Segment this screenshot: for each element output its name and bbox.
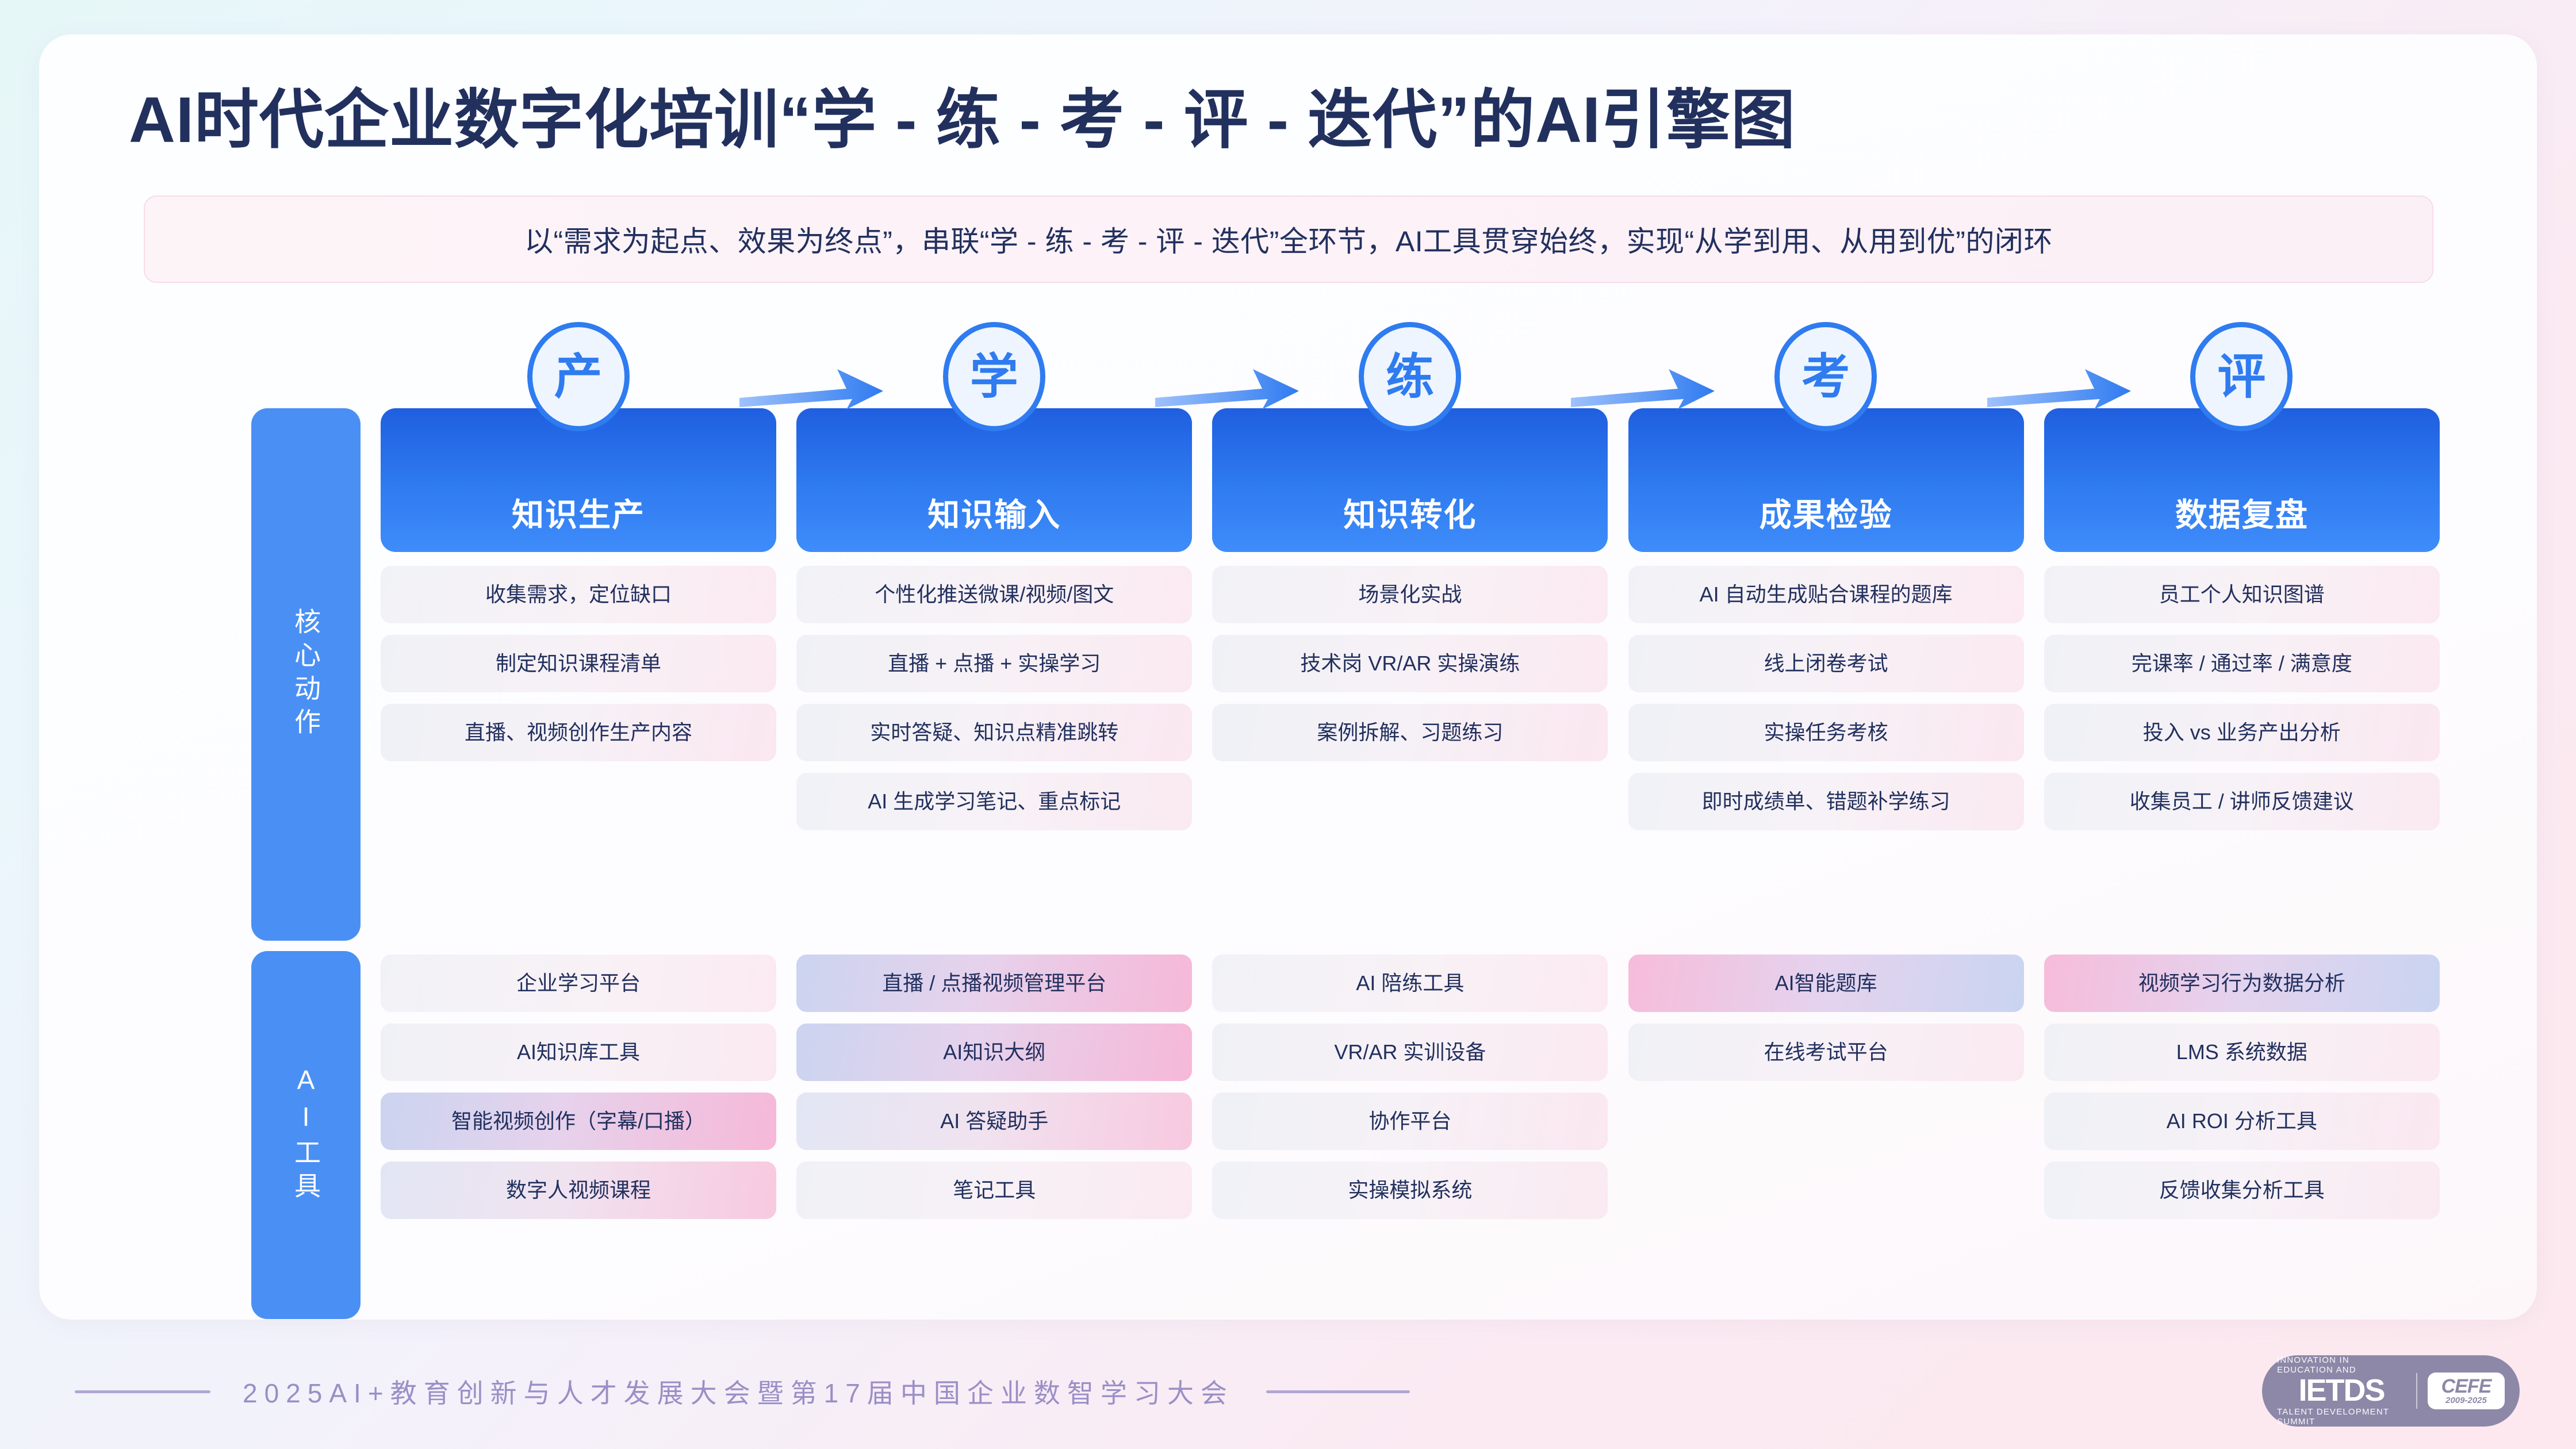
list-item-label: 场景化实战 bbox=[1358, 582, 1462, 606]
core-action-item[interactable]: 投入 vs 业务产出分析 bbox=[2044, 704, 2440, 761]
list-item-label: 投入 vs 业务产出分析 bbox=[2143, 720, 2341, 744]
list-item-label: 实操任务考核 bbox=[1764, 720, 1888, 744]
list-item-label: 直播、视频创作生产内容 bbox=[465, 720, 692, 744]
stage-circle-1: 产 bbox=[527, 322, 630, 431]
ai-tool-item[interactable]: 笔记工具 bbox=[796, 1161, 1192, 1219]
ai-tool-list: AI 陪练工具VR/AR 实训设备协作平台实操模拟系统 bbox=[1212, 954, 1608, 1230]
list-item-label: AI 生成学习笔记、重点标记 bbox=[868, 789, 1121, 813]
rail-core-actions-label: 核心动作 bbox=[287, 608, 325, 741]
stage-header-label: 数据复盘 bbox=[2175, 489, 2309, 536]
list-item-label: 直播 / 点播视频管理平台 bbox=[882, 971, 1106, 995]
core-action-item[interactable]: 直播、视频创作生产内容 bbox=[381, 704, 776, 761]
core-action-item[interactable]: 线上闭卷考试 bbox=[1628, 635, 2024, 692]
stage-header-label: 知识输入 bbox=[927, 489, 1061, 536]
stage-header-label: 知识转化 bbox=[1343, 489, 1477, 536]
core-action-item[interactable]: AI 生成学习笔记、重点标记 bbox=[796, 773, 1192, 830]
stage-header-label: 成果检验 bbox=[1759, 489, 1893, 536]
list-item-label: LMS 系统数据 bbox=[2176, 1040, 2307, 1064]
list-item-label: AI智能题库 bbox=[1775, 971, 1877, 995]
stage-circle-label: 评 bbox=[2217, 352, 2265, 401]
ai-tool-item[interactable]: AI 陪练工具 bbox=[1212, 954, 1608, 1012]
cefe-logo: CEFE 2009-2025 bbox=[2428, 1373, 2505, 1409]
footer-rule-left bbox=[75, 1390, 210, 1393]
stage-circle-label: 练 bbox=[1386, 352, 1434, 401]
core-action-item[interactable]: 直播 + 点播 + 实操学习 bbox=[796, 635, 1192, 692]
core-action-item[interactable]: 收集员工 / 讲师反馈建议 bbox=[2044, 773, 2440, 830]
ai-tool-item[interactable]: AI ROI 分析工具 bbox=[2044, 1092, 2440, 1150]
list-item-label: 线上闭卷考试 bbox=[1764, 651, 1888, 675]
ai-tool-item[interactable]: LMS 系统数据 bbox=[2044, 1023, 2440, 1081]
list-item-label: 智能视频创作（字幕/口播） bbox=[451, 1109, 706, 1133]
ietds-logo: INNOVATION IN EDUCATION AND IETDS TALENT… bbox=[2277, 1355, 2406, 1426]
list-item-label: 企业学习平台 bbox=[516, 971, 641, 995]
ai-tool-item[interactable]: AI智能题库 bbox=[1628, 954, 2024, 1012]
list-item-placeholder bbox=[1628, 1161, 2024, 1219]
list-item-label: 案例拆解、习题练习 bbox=[1317, 720, 1503, 744]
list-item-label: 实时答疑、知识点精准跳转 bbox=[870, 720, 1118, 744]
core-action-list: 员工个人知识图谱完课率 / 通过率 / 满意度投入 vs 业务产出分析收集员工 … bbox=[2044, 566, 2440, 842]
list-item-label: 即时成绩单、错题补学练习 bbox=[1702, 789, 1950, 813]
list-item-label: 员工个人知识图谱 bbox=[2159, 582, 2325, 606]
ai-tool-item[interactable]: 数字人视频课程 bbox=[381, 1161, 776, 1219]
core-action-list: AI 自动生成贴合课程的题库线上闭卷考试实操任务考核即时成绩单、错题补学练习 bbox=[1628, 566, 2024, 842]
list-item-label: AI 自动生成贴合课程的题库 bbox=[1700, 582, 1953, 606]
core-action-item[interactable]: 员工个人知识图谱 bbox=[2044, 566, 2440, 623]
list-item-label: 完课率 / 通过率 / 满意度 bbox=[2132, 651, 2352, 675]
ietds-wordmark: IETDS bbox=[2298, 1375, 2384, 1406]
core-action-item[interactable]: 实操任务考核 bbox=[1628, 704, 2024, 761]
footer-rule-right bbox=[1266, 1390, 1410, 1393]
core-action-item[interactable]: 场景化实战 bbox=[1212, 566, 1608, 623]
ietds-tagline-bottom: TALENT DEVELOPMENT SUMMIT bbox=[2277, 1407, 2406, 1427]
ai-tool-item[interactable]: 反馈收集分析工具 bbox=[2044, 1161, 2440, 1219]
stage-header-label: 知识生产 bbox=[512, 489, 645, 536]
list-item-placeholder bbox=[1628, 1092, 2024, 1150]
list-item-label: 数字人视频课程 bbox=[506, 1178, 651, 1202]
ai-tool-item[interactable]: 协作平台 bbox=[1212, 1092, 1608, 1150]
list-item-label: AI 答疑助手 bbox=[940, 1109, 1048, 1133]
ai-tool-item[interactable]: 在线考试平台 bbox=[1628, 1023, 2024, 1081]
ai-tool-item[interactable]: 实操模拟系统 bbox=[1212, 1161, 1608, 1219]
core-action-item[interactable]: 实时答疑、知识点精准跳转 bbox=[796, 704, 1192, 761]
flow-arrow-icon bbox=[1987, 366, 2131, 412]
list-item-label: AI知识大纲 bbox=[943, 1040, 1045, 1064]
rail-core-actions: 核心动作 bbox=[251, 408, 361, 941]
stage-circle-label: 学 bbox=[970, 352, 1018, 401]
ietds-tagline-top: INNOVATION IN EDUCATION AND bbox=[2277, 1355, 2406, 1375]
ai-tool-item[interactable]: AI知识大纲 bbox=[796, 1023, 1192, 1081]
ai-tool-item[interactable]: VR/AR 实训设备 bbox=[1212, 1023, 1608, 1081]
list-item-label: 实操模拟系统 bbox=[1348, 1178, 1472, 1202]
list-item-label: AI知识库工具 bbox=[517, 1040, 640, 1064]
rail-ai-tools-label: AI工具 bbox=[287, 1065, 325, 1205]
list-item-label: 协作平台 bbox=[1368, 1109, 1451, 1133]
list-item-label: 收集员工 / 讲师反馈建议 bbox=[2130, 789, 2354, 813]
stage-circle-5: 评 bbox=[2190, 322, 2293, 431]
ai-tool-item[interactable]: AI 答疑助手 bbox=[796, 1092, 1192, 1150]
flow-arrow-icon bbox=[1571, 366, 1715, 412]
core-action-item[interactable]: AI 自动生成贴合课程的题库 bbox=[1628, 566, 2024, 623]
engine-diagram: 核心动作 AI工具 产知识生产收集需求，定位缺口制定知识课程清单直播、视频创作生… bbox=[0, 0, 2576, 1449]
cefe-years: 2009-2025 bbox=[2445, 1396, 2487, 1405]
flow-arrow-icon bbox=[739, 366, 883, 412]
list-item-label: 制定知识课程清单 bbox=[496, 651, 661, 675]
list-item-label: 笔记工具 bbox=[953, 1178, 1036, 1202]
ai-tool-list: AI智能题库在线考试平台 bbox=[1628, 954, 2024, 1230]
conference-logo-pill: INNOVATION IN EDUCATION AND IETDS TALENT… bbox=[2262, 1355, 2520, 1427]
core-action-item[interactable]: 完课率 / 通过率 / 满意度 bbox=[2044, 635, 2440, 692]
list-item-label: 在线考试平台 bbox=[1764, 1040, 1888, 1064]
core-action-item[interactable]: 个性化推送微课/视频/图文 bbox=[796, 566, 1192, 623]
footer-text: 2025AI+教育创新与人才发展大会暨第17届中国企业数智学习大会 bbox=[243, 1373, 1234, 1410]
flow-arrow-icon bbox=[1155, 366, 1299, 412]
list-item-label: 收集需求，定位缺口 bbox=[485, 582, 672, 606]
list-item-label: 技术岗 VR/AR 实操演练 bbox=[1300, 651, 1520, 675]
stage-circle-label: 考 bbox=[1801, 352, 1850, 401]
core-action-item[interactable]: 技术岗 VR/AR 实操演练 bbox=[1212, 635, 1608, 692]
core-action-item[interactable]: 收集需求，定位缺口 bbox=[381, 566, 776, 623]
core-action-item[interactable]: 案例拆解、习题练习 bbox=[1212, 704, 1608, 761]
ai-tool-item[interactable]: 智能视频创作（字幕/口播） bbox=[381, 1092, 776, 1150]
list-item-label: 反馈收集分析工具 bbox=[2159, 1178, 2325, 1202]
ai-tool-item[interactable]: 直播 / 点播视频管理平台 bbox=[796, 954, 1192, 1012]
list-item-label: VR/AR 实训设备 bbox=[1334, 1040, 1486, 1064]
stage-circle-2: 学 bbox=[943, 322, 1045, 431]
logo-divider bbox=[2416, 1373, 2417, 1409]
core-action-list: 场景化实战技术岗 VR/AR 实操演练案例拆解、习题练习 bbox=[1212, 566, 1608, 842]
core-action-item[interactable]: 即时成绩单、错题补学练习 bbox=[1628, 773, 2024, 830]
list-item-placeholder bbox=[381, 773, 776, 830]
rail-ai-tools: AI工具 bbox=[251, 951, 361, 1319]
stage-circle-label: 产 bbox=[554, 352, 603, 401]
ai-tool-list: 直播 / 点播视频管理平台AI知识大纲AI 答疑助手笔记工具 bbox=[796, 954, 1192, 1230]
list-item-label: 个性化推送微课/视频/图文 bbox=[875, 582, 1114, 606]
stage-circle-4: 考 bbox=[1774, 322, 1877, 431]
list-item-placeholder bbox=[1212, 773, 1608, 830]
ai-tool-item[interactable]: 企业学习平台 bbox=[381, 954, 776, 1012]
ai-tool-list: 企业学习平台AI知识库工具智能视频创作（字幕/口播）数字人视频课程 bbox=[381, 954, 776, 1230]
list-item-label: 视频学习行为数据分析 bbox=[2138, 971, 2345, 995]
core-action-item[interactable]: 制定知识课程清单 bbox=[381, 635, 776, 692]
footer: 2025AI+教育创新与人才发展大会暨第17届中国企业数智学习大会 INNOVA… bbox=[0, 1348, 2576, 1435]
core-action-list: 收集需求，定位缺口制定知识课程清单直播、视频创作生产内容 bbox=[381, 566, 776, 842]
stage-circle-3: 练 bbox=[1359, 322, 1461, 431]
cefe-wordmark: CEFE bbox=[2441, 1377, 2491, 1396]
core-action-list: 个性化推送微课/视频/图文直播 + 点播 + 实操学习实时答疑、知识点精准跳转A… bbox=[796, 566, 1192, 842]
ai-tool-list: 视频学习行为数据分析LMS 系统数据AI ROI 分析工具反馈收集分析工具 bbox=[2044, 954, 2440, 1230]
ai-tool-item[interactable]: 视频学习行为数据分析 bbox=[2044, 954, 2440, 1012]
list-item-label: AI ROI 分析工具 bbox=[2167, 1109, 2317, 1133]
list-item-label: 直播 + 点播 + 实操学习 bbox=[888, 651, 1101, 675]
list-item-label: AI 陪练工具 bbox=[1356, 971, 1464, 995]
ai-tool-item[interactable]: AI知识库工具 bbox=[381, 1023, 776, 1081]
